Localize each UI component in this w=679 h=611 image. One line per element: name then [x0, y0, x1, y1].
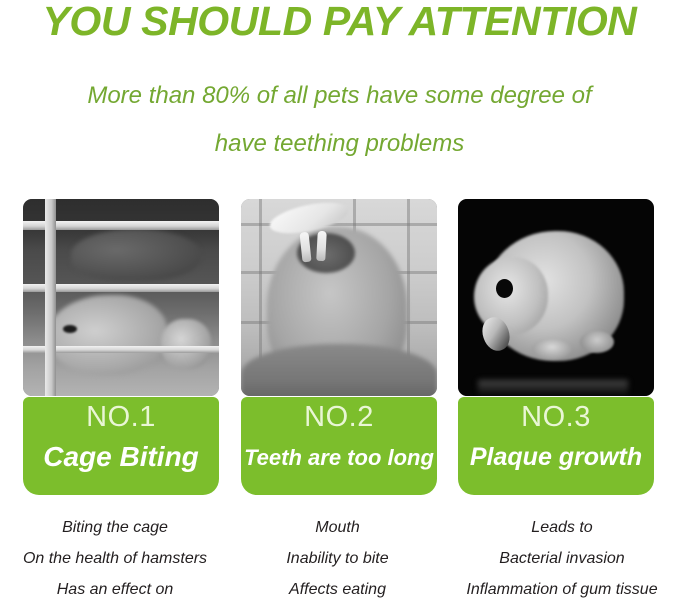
caption-line: Leads to — [445, 512, 679, 543]
caption-line: Bacterial invasion — [445, 543, 679, 574]
caption-column-1: Biting the cage On the health of hamster… — [0, 512, 230, 605]
caption-column-3: Leads to Bacterial invasion Inflammation… — [445, 512, 679, 605]
subtitle-line-1: More than 80% of all pets have some degr… — [0, 72, 679, 120]
card-label-no-1: NO.1 Cage Biting — [23, 397, 219, 495]
tooth-shape — [316, 231, 327, 261]
card-number: NO.2 — [241, 401, 437, 434]
card-label-no-3: NO.3 Plaque growth — [458, 397, 654, 495]
card-photo-long-teeth — [241, 199, 437, 396]
photo-shape — [241, 344, 437, 396]
card-no-2: NO.2 Teeth are too long — [241, 199, 437, 495]
cards-row: NO.1 Cage Biting NO.2 Teeth are t — [0, 199, 679, 495]
caption-line: Affects eating — [230, 574, 445, 605]
photo-shape — [496, 279, 513, 298]
photo-shape — [47, 295, 167, 375]
caption-line: Inability to bite — [230, 543, 445, 574]
caption-line: Biting the cage — [0, 512, 230, 543]
photo-shape — [161, 319, 211, 369]
hamster-eating-seed-on-black-background-photo — [458, 199, 654, 396]
card-no-1: NO.1 Cage Biting — [23, 199, 219, 495]
hamster-held-showing-long-teeth-photo — [241, 199, 437, 396]
caption-line: Inflammation of gum tissue — [445, 574, 679, 605]
card-title: Plaque growth — [458, 443, 654, 472]
page-title: YOU SHOULD PAY ATTENTION — [0, 0, 679, 45]
caption-column-2: Mouth Inability to bite Affects eating — [230, 512, 445, 605]
card-photo-plaque-growth — [458, 199, 654, 396]
cage-post — [45, 199, 56, 396]
photo-shape — [580, 331, 614, 353]
subtitle: More than 80% of all pets have some degr… — [0, 72, 679, 168]
photo-shape — [71, 229, 201, 281]
card-title: Teeth are too long — [241, 445, 437, 471]
hamsters-behind-cage-bars-photo — [23, 199, 219, 396]
caption-line: On the health of hamsters — [0, 543, 230, 574]
card-no-3: NO.3 Plaque growth — [458, 199, 654, 495]
card-number: NO.3 — [458, 401, 654, 434]
caption-line: Has an effect on — [0, 574, 230, 605]
card-photo-cage-biting — [23, 199, 219, 396]
photo-shape — [478, 380, 628, 396]
subtitle-line-2: have teething problems — [0, 120, 679, 168]
card-number: NO.1 — [23, 401, 219, 434]
photo-shape — [63, 325, 77, 333]
photo-shape — [532, 339, 572, 359]
caption-line: Mouth — [230, 512, 445, 543]
card-title: Cage Biting — [23, 441, 219, 473]
captions-row: Biting the cage On the health of hamster… — [0, 512, 679, 611]
card-label-no-2: NO.2 Teeth are too long — [241, 397, 437, 495]
